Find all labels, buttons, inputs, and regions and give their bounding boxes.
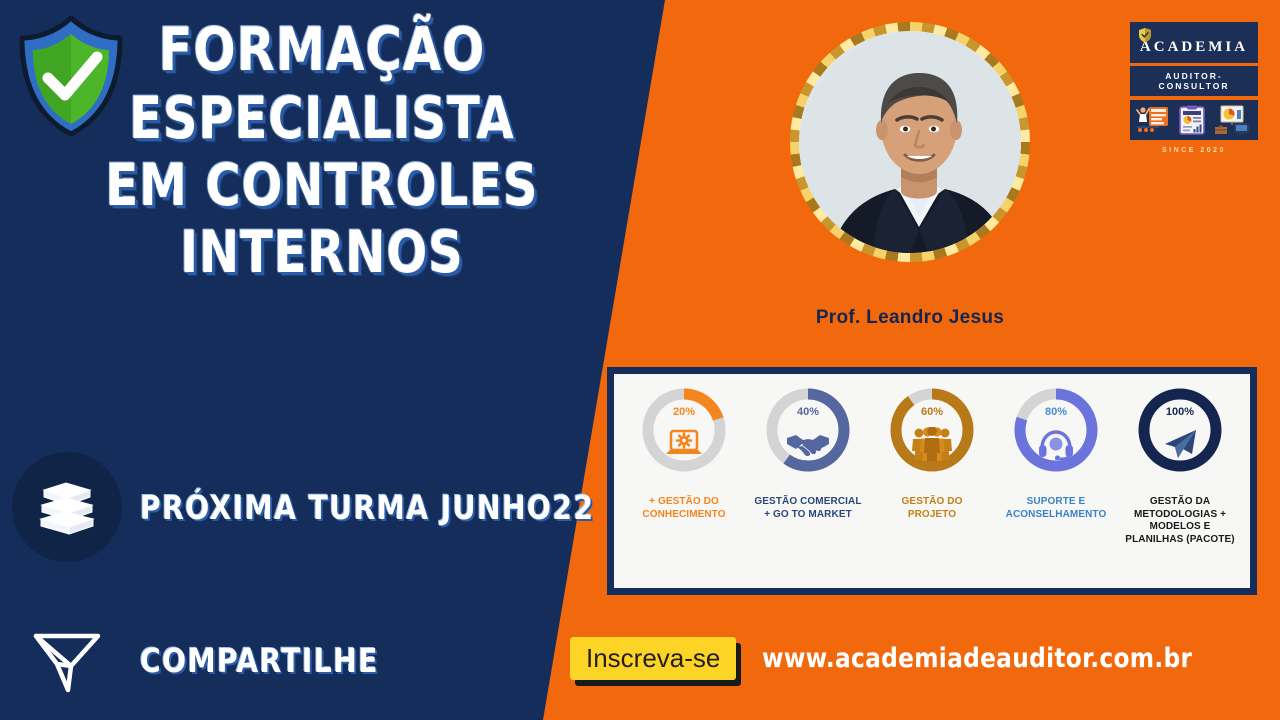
- laptop-gear-icon: [664, 428, 704, 460]
- step-label-line: GESTÃO COMERCIAL: [746, 496, 870, 509]
- progress-donut: 80%: [1010, 384, 1102, 490]
- instructor-photo-ring: [790, 22, 1030, 262]
- people-group-icon: [910, 427, 954, 461]
- share-icon-wrap: [12, 605, 122, 715]
- presentation-desk-icon: [1214, 105, 1252, 135]
- step-label-line: GESTÃO DA: [1118, 496, 1242, 509]
- subscribe-button[interactable]: Inscreva-se: [570, 637, 736, 680]
- step-glyph: [1134, 424, 1226, 464]
- brand-badge: ACADEMIA AUDITOR-CONSULTOR: [1130, 22, 1258, 154]
- page-title: FORMAÇÃO ESPECIALISTA EM CONTROLES INTER…: [62, 22, 582, 292]
- step-glyph: [762, 424, 854, 464]
- step-glyph: [638, 424, 730, 464]
- instructor-name: Prof. Leandro Jesus: [700, 307, 1120, 329]
- headline-line-3: EM CONTROLES: [83, 158, 561, 213]
- donut-percent: 80%: [1010, 406, 1102, 418]
- step-item: 80%: [994, 384, 1118, 584]
- step-label-line: ACONSELHAMENTO: [994, 509, 1118, 522]
- step-label-line: PROJETO: [870, 509, 994, 522]
- donut-percent: 20%: [638, 406, 730, 418]
- step-label: GESTÃO DA METODOLOGIAS + MODELOS E PLANI…: [1118, 496, 1242, 546]
- steps-infographic-card: 20%: [607, 367, 1257, 595]
- progress-donut: 100%: [1134, 384, 1226, 490]
- step-label: GESTÃO DO PROJETO: [870, 496, 994, 521]
- promo-poster: FORMAÇÃO ESPECIALISTA EM CONTROLES INTER…: [0, 0, 1280, 720]
- brand-subtitle: AUDITOR-CONSULTOR: [1130, 66, 1258, 96]
- step-label-line: PLANILHAS (PACOTE): [1118, 534, 1242, 547]
- steps-container: 20%: [614, 374, 1250, 588]
- donut-percent: 40%: [762, 406, 854, 418]
- step-item: 60%: [870, 384, 994, 584]
- share-send-icon: [30, 624, 104, 696]
- cta-row: Inscreva-se www.academiadeauditor.com.br: [570, 637, 1211, 680]
- progress-donut: 20%: [638, 384, 730, 490]
- step-item: 40%: [746, 384, 870, 584]
- step-item: 20%: [622, 384, 746, 584]
- next-class-label: PRÓXIMA TURMA JUNHO22: [140, 488, 595, 527]
- headline-line-4: INTERNOS: [83, 225, 561, 280]
- step-label-line: MODELOS E: [1118, 521, 1242, 534]
- headline-line-1: FORMAÇÃO: [83, 22, 561, 79]
- left-column: FORMAÇÃO ESPECIALISTA EM CONTROLES INTER…: [0, 0, 640, 720]
- paper-plane-icon: [1161, 427, 1199, 461]
- brand-top-block: ACADEMIA: [1130, 22, 1258, 63]
- share-row[interactable]: COMPARTILHE: [12, 605, 392, 715]
- step-item: 100% GESTÃO DA METODOLOGIAS + MODELOS E …: [1118, 384, 1242, 584]
- progress-donut: 60%: [886, 384, 978, 490]
- step-glyph: [886, 424, 978, 464]
- headset-support-icon: [1037, 428, 1075, 460]
- donut-percent: 100%: [1134, 406, 1226, 418]
- step-label-line: METODOLOGIAS +: [1118, 509, 1242, 522]
- instructor-portrait-illustration: [799, 31, 1021, 253]
- next-class-row: PRÓXIMA TURMA JUNHO22: [12, 452, 618, 562]
- presenter-board-icon: [1136, 105, 1170, 135]
- share-label: COMPARTILHE: [140, 641, 379, 680]
- step-label-line: + GO TO MARKET: [746, 509, 870, 522]
- brand-since-label: SINCE 2020: [1130, 147, 1258, 154]
- instructor-photo: [799, 31, 1021, 253]
- stacked-books-icon: [36, 478, 98, 536]
- step-label: SUPORTE E ACONSELHAMENTO: [994, 496, 1118, 521]
- headline-line-2: ESPECIALISTA: [83, 91, 561, 146]
- step-label-line: GESTÃO DO: [870, 496, 994, 509]
- progress-donut: 40%: [762, 384, 854, 490]
- donut-percent: 60%: [886, 406, 978, 418]
- step-label: + GESTÃO DO CONHECIMENTO: [622, 496, 746, 521]
- step-label-line: SUPORTE E: [994, 496, 1118, 509]
- step-label-line: + GESTÃO DO: [622, 496, 746, 509]
- step-label-line: CONHECIMENTO: [622, 509, 746, 522]
- brand-icon-strip: [1130, 100, 1258, 140]
- audit-clipboard-icon: [1178, 105, 1206, 135]
- brand-title: ACADEMIA: [1136, 39, 1252, 56]
- step-label: GESTÃO COMERCIAL + GO TO MARKET: [746, 496, 870, 521]
- handshake-icon: [786, 429, 830, 459]
- step-glyph: [1010, 424, 1102, 464]
- brand-shield-icon: [1138, 27, 1152, 43]
- website-url[interactable]: www.academiadeauditor.com.br: [762, 643, 1192, 674]
- books-icon-badge: [12, 452, 122, 562]
